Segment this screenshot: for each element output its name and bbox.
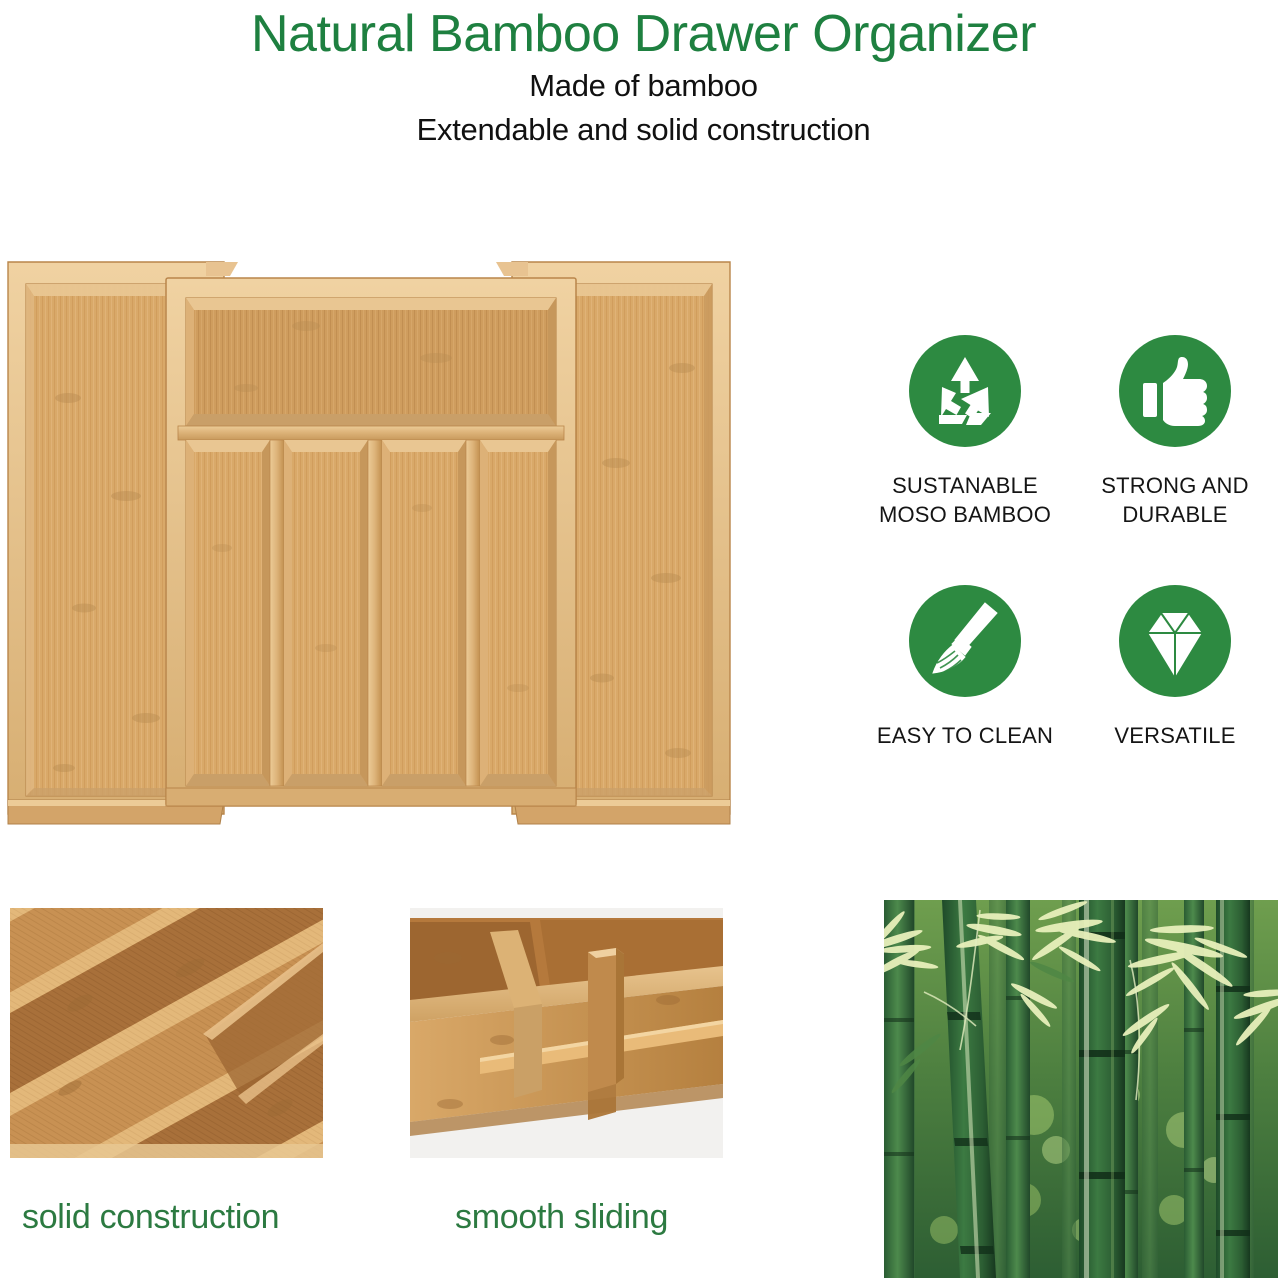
center-tray [166, 278, 576, 806]
feature-label: EASY TO CLEAN [860, 721, 1070, 750]
caption-smooth-sliding: smooth sliding [455, 1198, 668, 1237]
thumbs-up-icon [1119, 335, 1231, 447]
bamboo-slat-closeup-illustration [10, 908, 323, 1158]
feature-label: VERSATILE [1070, 721, 1280, 750]
compartment-top-wide [186, 298, 556, 426]
feature-versatile: VERSATILE [1070, 585, 1280, 750]
feature-label: STRONG AND DURABLE [1070, 471, 1280, 529]
feature-grid: SUSTANABLE MOSO BAMBOO STRONG AND DURABL… [860, 335, 1280, 765]
brush-icon [909, 585, 1021, 697]
sliding-rail-closeup-illustration [410, 908, 723, 1158]
bamboo-forest-photo [884, 900, 1278, 1278]
feature-sustainable: SUSTANABLE MOSO BAMBOO [860, 335, 1070, 529]
page-title: Natural Bamboo Drawer Organizer [0, 4, 1287, 64]
detail-photo-smooth-sliding [410, 908, 723, 1158]
drawer-organizer-illustration [6, 248, 732, 836]
brush-icon-badge [909, 585, 1021, 697]
feature-label: SUSTANABLE MOSO BAMBOO [860, 471, 1070, 529]
feature-strong-durable: STRONG AND DURABLE [1070, 335, 1280, 529]
header: Natural Bamboo Drawer Organizer Made of … [0, 0, 1287, 180]
bamboo-forest-illustration [884, 900, 1278, 1278]
product-photo-main [6, 248, 732, 836]
subtitle-line-1: Made of bamboo [0, 64, 1287, 108]
diamond-icon [1119, 585, 1231, 697]
recycle-icon-badge [909, 335, 1021, 447]
detail-photo-solid-construction [10, 908, 323, 1158]
subtitle-line-2: Extendable and solid construction [0, 108, 1287, 152]
compartment-slots [186, 440, 556, 786]
feature-easy-to-clean: EASY TO CLEAN [860, 585, 1070, 750]
horizontal-divider [178, 426, 564, 440]
diamond-icon-badge [1119, 585, 1231, 697]
thumbs-up-icon-badge [1119, 335, 1231, 447]
caption-solid-construction: solid construction [22, 1198, 279, 1237]
recycle-icon [909, 335, 1021, 447]
